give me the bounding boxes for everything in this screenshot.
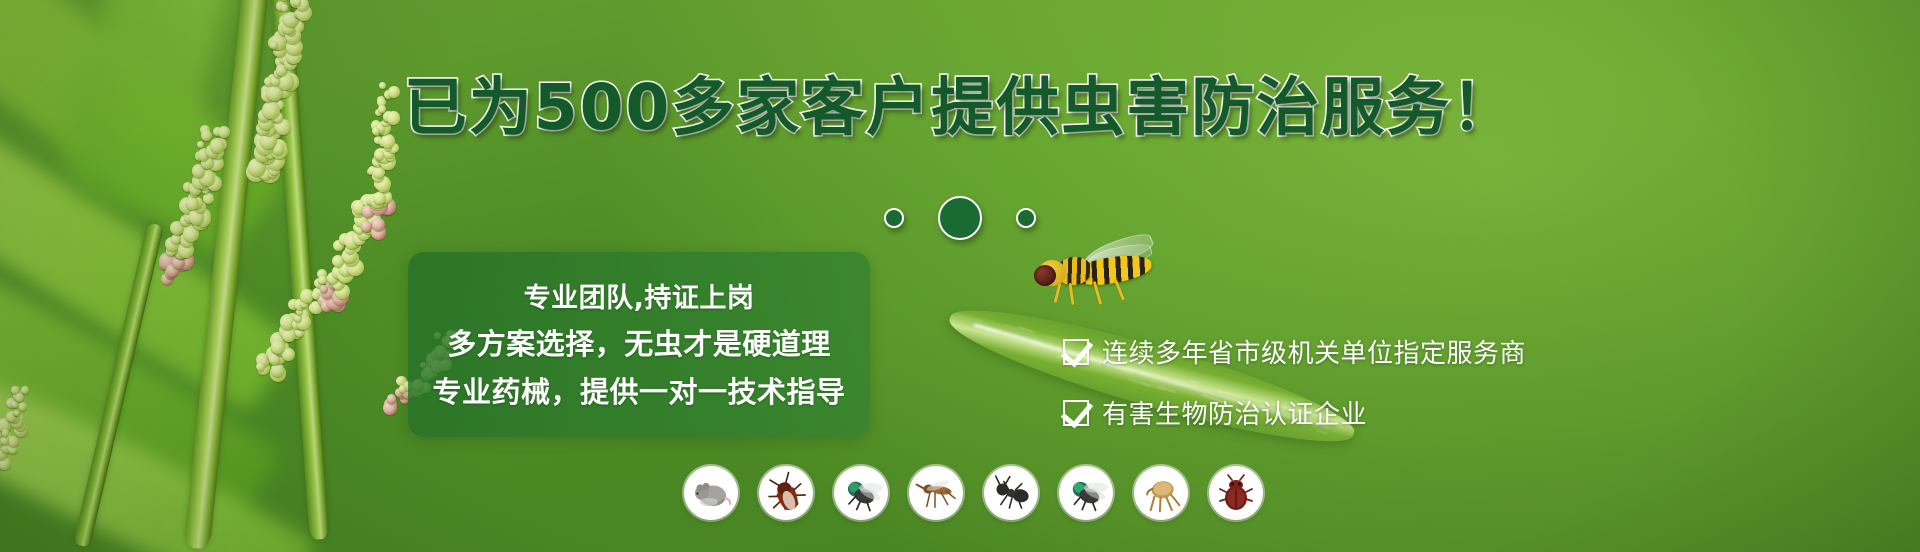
mosquito-icon[interactable] <box>909 466 963 520</box>
cockroach-icon[interactable] <box>759 466 813 520</box>
panel-line-1: 专业团队,持证上岗 <box>524 276 755 315</box>
credential-text: 连续多年省市级机关单位指定服务商 <box>1102 333 1526 370</box>
pest-icon-row <box>684 466 1263 520</box>
dot-small-left <box>884 208 904 228</box>
rat-icon[interactable] <box>684 466 738 520</box>
panel-line-3: 专业药械，提供一对一技术指导 <box>432 369 845 411</box>
decorative-dots <box>0 196 1920 240</box>
dot-small-right <box>1016 208 1036 228</box>
selling-points-panel: 专业团队,持证上岗 多方案选择，无虫才是硬道理 专业药械，提供一对一技术指导 <box>408 252 870 437</box>
pest-control-banner: 已为500多家客户提供虫害防治服务！ 专业团队,持证上岗 多方案选择，无虫才是硬… <box>0 0 1920 552</box>
panel-line-2: 多方案选择，无虫才是硬道理 <box>447 321 831 363</box>
checkbox-checked-icon <box>1063 400 1089 426</box>
bedbug-icon[interactable] <box>1209 466 1263 520</box>
credential-text: 有害生物防治认证企业 <box>1102 394 1367 431</box>
dot-large-center <box>938 196 982 240</box>
credentials-list: 连续多年省市级机关单位指定服务商 有害生物防治认证企业 <box>1063 333 1526 431</box>
fly-icon[interactable] <box>834 466 888 520</box>
list-item: 连续多年省市级机关单位指定服务商 <box>1063 333 1526 370</box>
list-item: 有害生物防治认证企业 <box>1063 394 1526 431</box>
blowfly-icon[interactable] <box>1059 466 1113 520</box>
flea-icon[interactable] <box>1134 466 1188 520</box>
page-title: 已为500多家客户提供虫害防治服务！ <box>0 76 1920 139</box>
ant-icon[interactable] <box>984 466 1038 520</box>
checkbox-checked-icon <box>1063 339 1089 365</box>
